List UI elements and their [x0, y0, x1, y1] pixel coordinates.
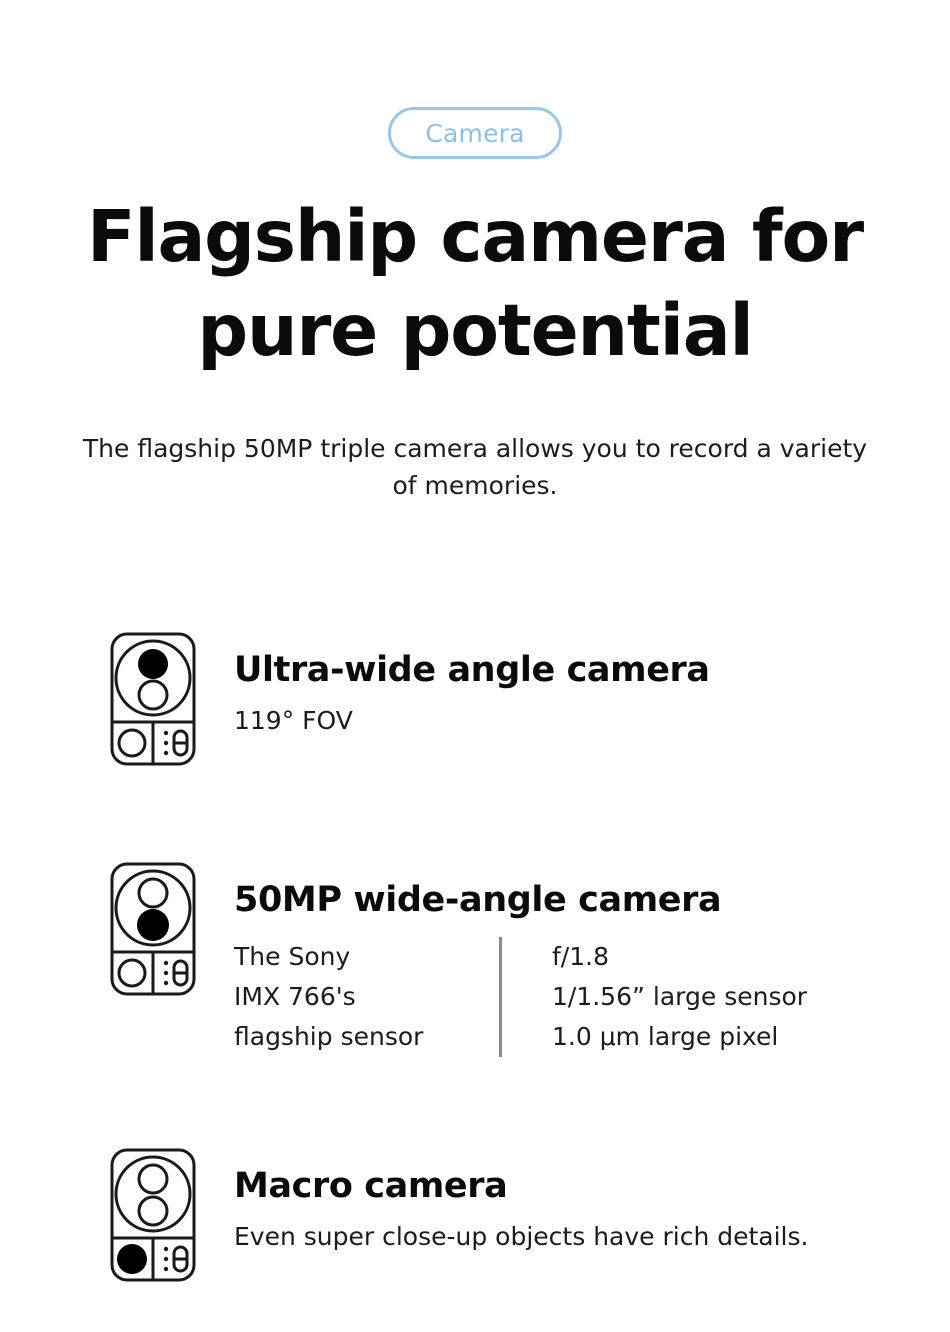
feature-title: 50MP wide-angle camera	[234, 880, 807, 921]
feature-title: Ultra-wide angle camera	[234, 650, 710, 691]
spec-columns: The Sony IMX 766's flagship sensor f/1.8…	[234, 937, 807, 1057]
spec-line: The Sony	[234, 937, 499, 977]
section-badge-label: Camera	[425, 121, 524, 146]
feature-body: Macro camera Even super close-up objects…	[196, 1148, 808, 1282]
camera-module-macro-icon	[110, 1148, 196, 1282]
feature-body: 50MP wide-angle camera The Sony IMX 766'…	[196, 862, 807, 1057]
feature-macro: Macro camera Even super close-up objects…	[110, 1148, 808, 1282]
feature-subtitle: 119° FOV	[234, 703, 710, 738]
section-badge: Camera	[388, 107, 561, 159]
feature-title: Macro camera	[234, 1166, 808, 1207]
spec-line: f/1.8	[552, 937, 807, 977]
camera-module-ultrawide-icon	[110, 632, 196, 766]
spec-line: IMX 766's	[234, 977, 499, 1017]
spec-divider	[499, 937, 502, 1057]
spec-line: 1.0 μm large pixel	[552, 1017, 807, 1057]
camera-feature-page: Camera Flagship camera for pure potentia…	[0, 0, 950, 1332]
camera-module-wide-icon	[110, 862, 196, 996]
spec-line: flagship sensor	[234, 1017, 499, 1057]
feature-subtitle: Even super close-up objects have rich de…	[234, 1219, 808, 1254]
spec-column-left: The Sony IMX 766's flagship sensor	[234, 937, 499, 1057]
feature-ultra-wide: Ultra-wide angle camera 119° FOV	[110, 632, 710, 766]
spec-line: 1/1.56” large sensor	[552, 977, 807, 1017]
spec-column-right: f/1.8 1/1.56” large sensor 1.0 μm large …	[552, 937, 807, 1057]
feature-wide-angle: 50MP wide-angle camera The Sony IMX 766'…	[110, 862, 807, 1057]
page-title: Flagship camera for pure potential	[55, 190, 895, 379]
badge-row: Camera	[0, 107, 950, 159]
feature-body: Ultra-wide angle camera 119° FOV	[196, 632, 710, 766]
page-subtitle: The flagship 50MP triple camera allows y…	[80, 430, 870, 504]
